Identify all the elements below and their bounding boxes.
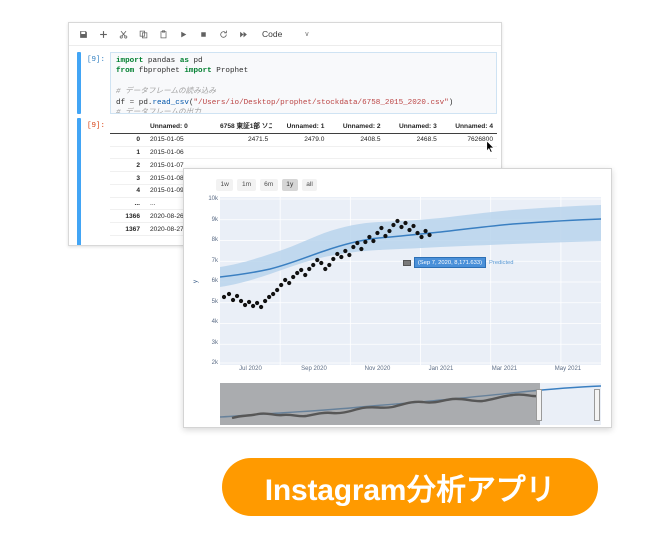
code-line: df = pd.read_csv("/Users/io/Desktop/prop… [116, 98, 491, 108]
table-column-header: 6758 東証1部 ソニー(株)（電気機器） [216, 118, 272, 133]
row-index: 4 [110, 184, 144, 197]
row-index: 3 [110, 172, 144, 185]
fast-forward-icon[interactable] [235, 26, 252, 43]
plot-row: y 10k9k8k7k6k5k4k3k2k [184, 197, 611, 365]
x-axis-ticks: Jul 2020Sep 2020Nov 2020Jan 2021Mar 2021… [220, 365, 601, 379]
table-header-row: Unnamed: 06758 東証1部 ソニー(株)（電気機器）Unnamed:… [110, 118, 497, 133]
code-line [116, 77, 491, 87]
table-column-header: Unnamed: 4 [441, 118, 497, 133]
table-cell: 2479.0 [272, 133, 328, 146]
row-index: 0 [110, 133, 144, 146]
table-cell [385, 146, 441, 159]
range-button-all[interactable]: all [302, 179, 318, 191]
table-column-header: Unnamed: 1 [272, 118, 328, 133]
app-banner-text: Instagram分析アプリ [265, 465, 556, 509]
code-editor[interactable]: import pandas as pdfrom fbprophet import… [110, 52, 497, 114]
restart-kernel-icon[interactable] [215, 26, 232, 43]
table-head: Unnamed: 06758 東証1部 ソニー(株)（電気機器）Unnamed:… [110, 118, 497, 133]
input-prompt: [9]: [69, 52, 110, 114]
row-index: 1366 [110, 210, 144, 223]
code-line: # データフレームの読み込み [116, 87, 491, 97]
row-index: ... [110, 197, 144, 210]
run-icon[interactable] [175, 26, 192, 43]
table-cell: 2471.5 [216, 133, 272, 146]
copy-icon[interactable] [135, 26, 152, 43]
cut-icon[interactable] [115, 26, 132, 43]
y-tick-label: 7k [212, 258, 218, 264]
x-tick-label: Mar 2021 [492, 366, 517, 372]
output-selection-bar [77, 118, 81, 246]
plot-area[interactable]: (Sep 7, 2020, 8,171.633) Predicted [220, 197, 601, 365]
table-cell: 2015-01-06 [144, 146, 216, 159]
table-row: 12015-01-06 [110, 146, 497, 159]
row-index: 1 [110, 146, 144, 159]
x-tick-label: May 2021 [555, 366, 581, 372]
table-cell: 2408.5 [328, 133, 384, 146]
table-cell: 2015-01-05 [144, 133, 216, 146]
notebook-toolbar: Code ∨ [69, 23, 501, 46]
range-slider-mask-left [220, 383, 540, 425]
range-button-1m[interactable]: 1m [237, 179, 255, 191]
table-cell [272, 146, 328, 159]
range-slider-handle-left[interactable] [536, 389, 542, 421]
range-button-6m[interactable]: 6m [260, 179, 278, 191]
data-point-tooltip: (Sep 7, 2020, 8,171.633) Predicted [403, 257, 514, 268]
paste-icon[interactable] [155, 26, 172, 43]
code-line: from fbprophet import Prophet [116, 66, 491, 76]
add-cell-icon[interactable] [95, 26, 112, 43]
save-icon[interactable] [75, 26, 92, 43]
table-cell [441, 146, 497, 159]
output-prompt: [9]: [69, 118, 110, 246]
range-button-1w[interactable]: 1w [216, 179, 233, 191]
table-column-header [110, 118, 144, 133]
range-selector[interactable]: 1w1m6m1yall [184, 169, 611, 197]
y-tick-label: 8k [212, 237, 218, 243]
y-axis-ticks: 10k9k8k7k6k5k4k3k2k [202, 197, 220, 365]
code-line: # データフレームの出力 [116, 108, 491, 114]
y-tick-label: 6k [212, 278, 218, 284]
y-tick-label: 2k [212, 360, 218, 366]
x-tick-label: Nov 2020 [365, 366, 391, 372]
table-row: 02015-01-052471.52479.02408.52468.576268… [110, 133, 497, 146]
tooltip-marker-icon [403, 260, 411, 266]
uncertainty-band [220, 205, 601, 287]
y-tick-label: 3k [212, 340, 218, 346]
table-column-header: Unnamed: 0 [144, 118, 216, 133]
tooltip-series-label: Predicted [489, 260, 514, 266]
range-button-1y[interactable]: 1y [282, 179, 298, 191]
y-tick-label: 5k [212, 299, 218, 305]
x-tick-label: Sep 2020 [301, 366, 327, 372]
table-column-header: Unnamed: 2 [328, 118, 384, 133]
range-slider[interactable] [220, 383, 601, 425]
table-cell [328, 146, 384, 159]
table-cell: 7626800 [441, 133, 497, 146]
table-column-header: Unnamed: 3 [385, 118, 441, 133]
y-tick-label: 10k [208, 196, 218, 202]
chevron-down-icon: ∨ [304, 30, 309, 38]
cell-type-select[interactable]: Code ∨ [262, 29, 309, 39]
cell-selection-bar [77, 52, 81, 114]
y-tick-label: 9k [212, 217, 218, 223]
app-banner[interactable]: Instagram分析アプリ [222, 458, 598, 516]
row-index: 2 [110, 159, 144, 172]
forecast-chart-window: 1w1m6m1yall y 10k9k8k7k6k5k4k3k2k [183, 168, 612, 428]
table-cell: 2468.5 [385, 133, 441, 146]
y-axis-title: y [190, 197, 202, 365]
stop-icon[interactable] [195, 26, 212, 43]
code-line: import pandas as pd [116, 56, 491, 66]
x-tick-label: Jan 2021 [429, 366, 454, 372]
x-tick-label: Jul 2020 [239, 366, 262, 372]
y-tick-label: 4k [212, 319, 218, 325]
code-cell[interactable]: [9]: import pandas as pdfrom fbprophet i… [69, 50, 501, 116]
tooltip-value: (Sep 7, 2020, 8,171.633) [414, 257, 486, 268]
row-index: 1367 [110, 223, 144, 236]
forecast-plot-svg [220, 197, 601, 365]
cell-type-value: Code [262, 29, 282, 39]
range-slider-handle-right[interactable] [594, 389, 600, 421]
table-cell [216, 146, 272, 159]
